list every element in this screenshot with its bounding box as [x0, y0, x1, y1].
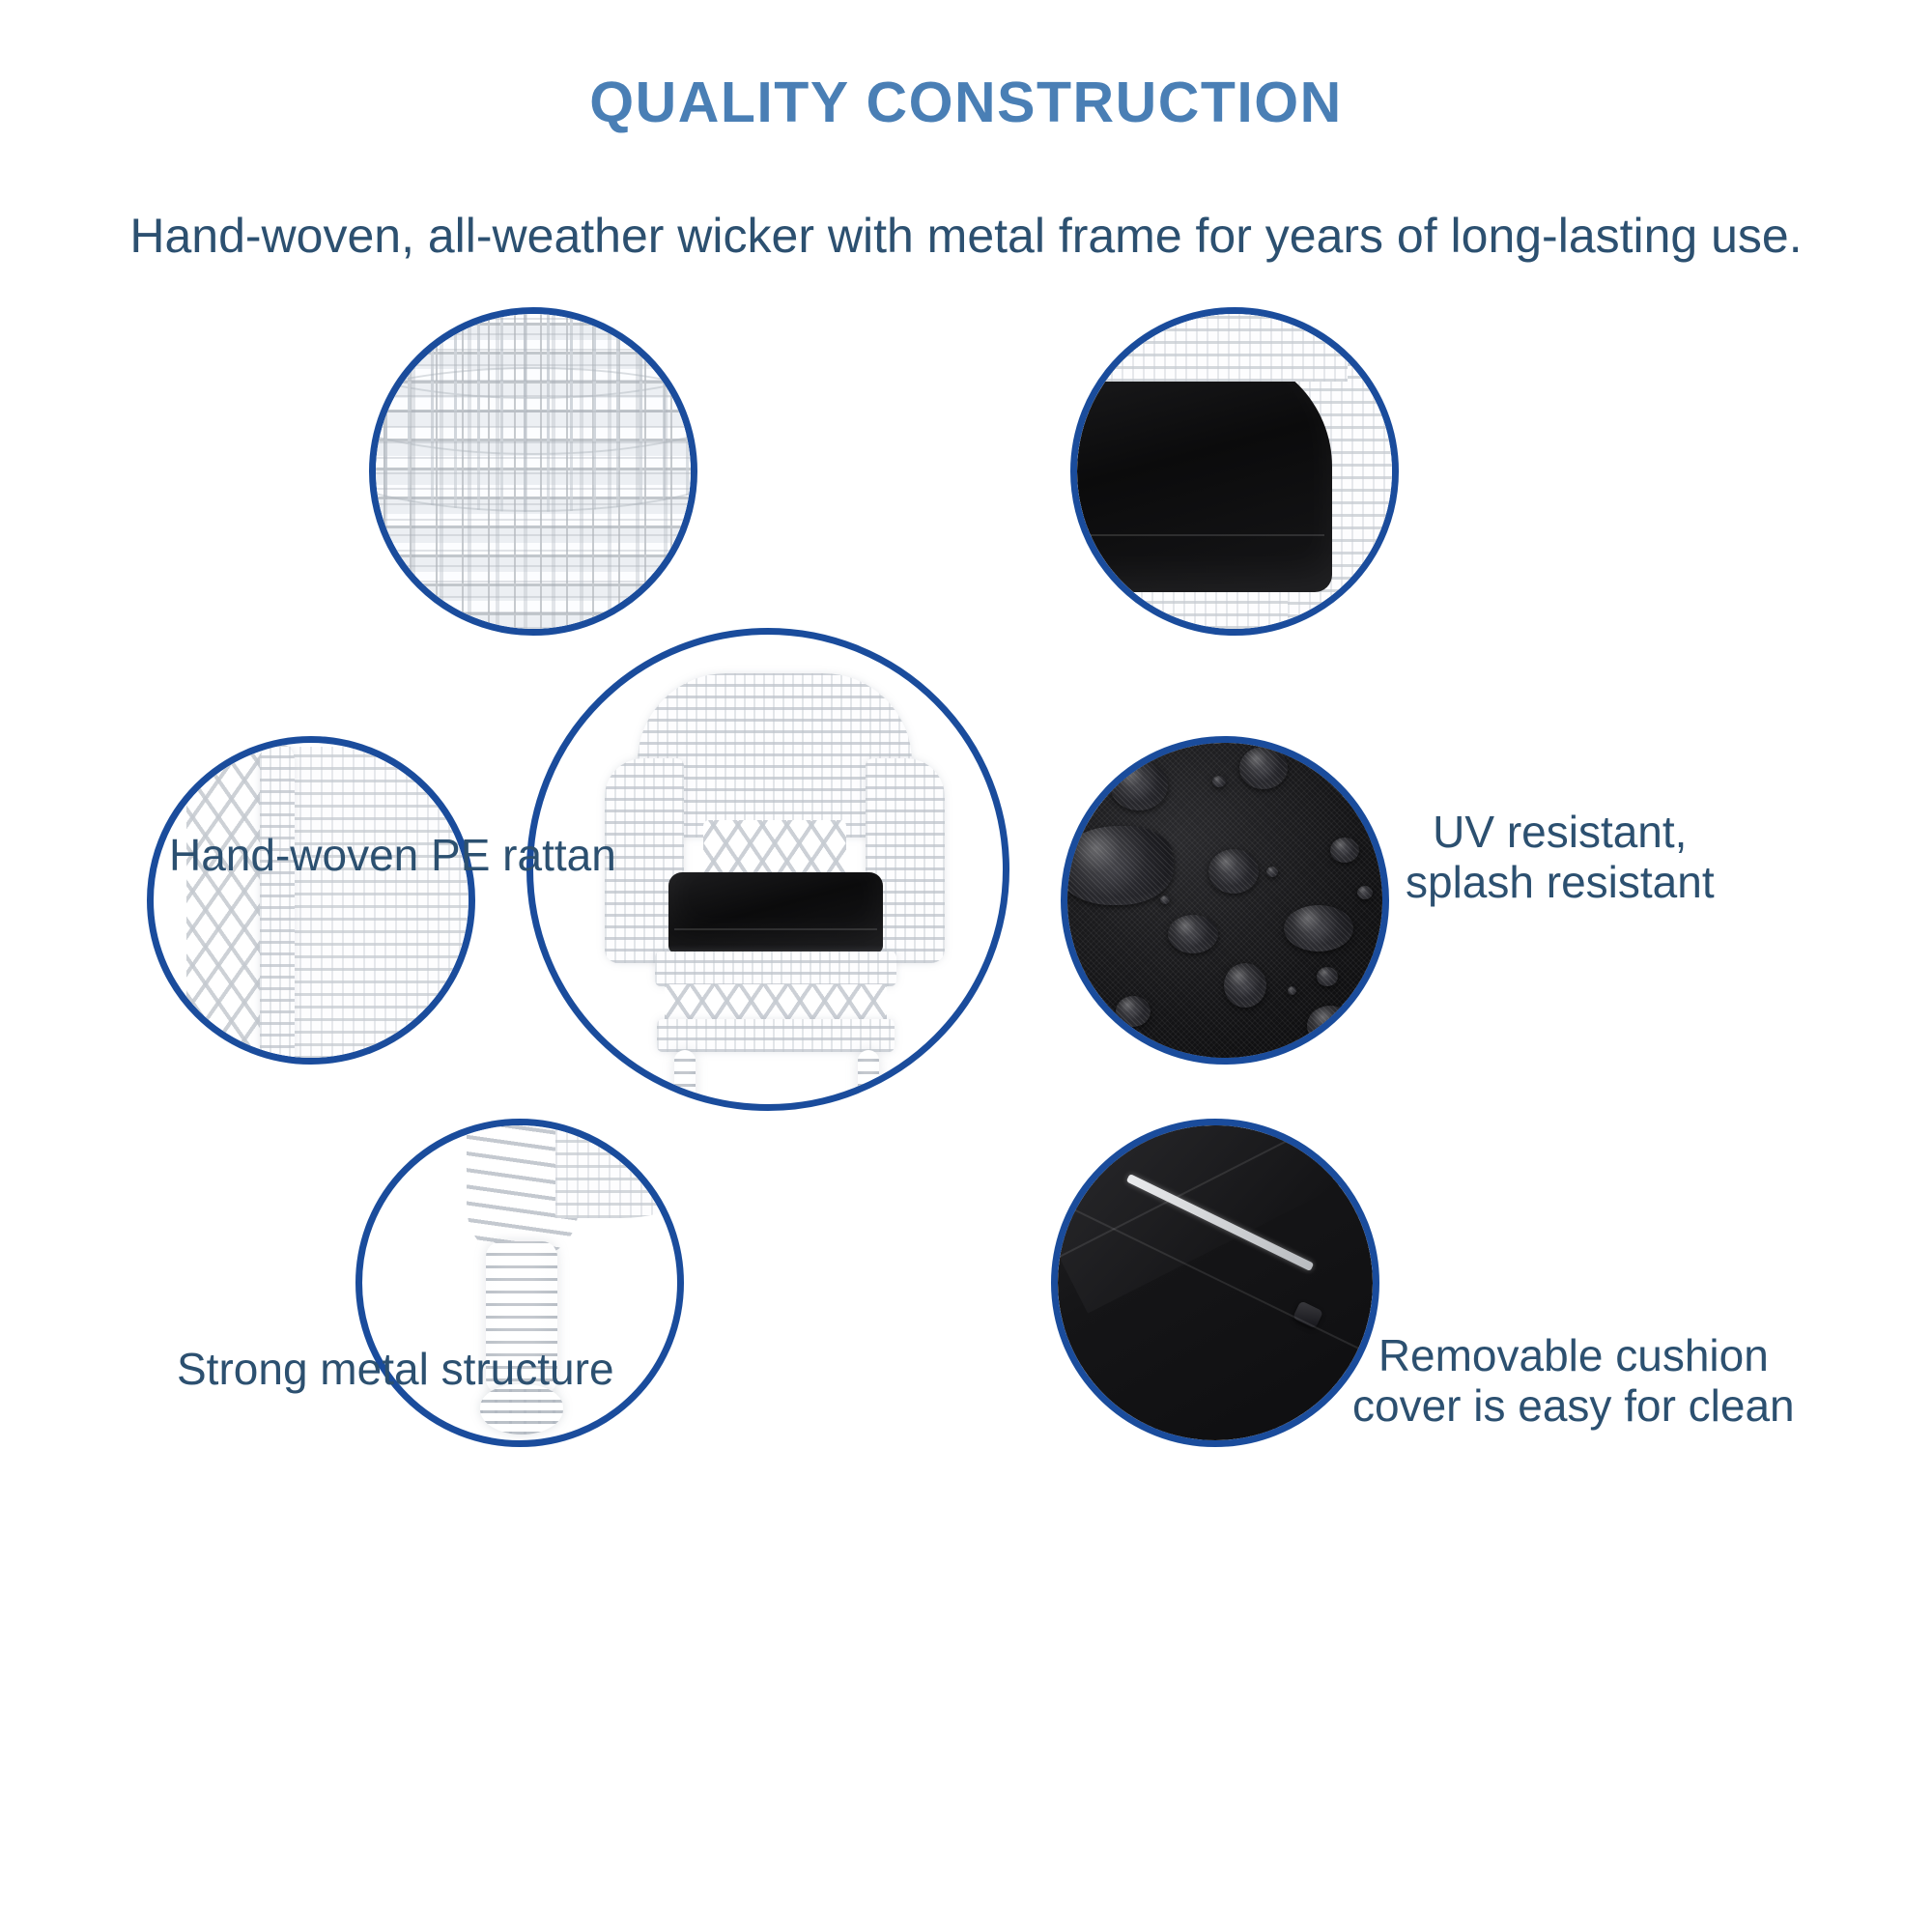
water-droplet	[1116, 996, 1151, 1027]
chair-lower-rail	[657, 1019, 895, 1052]
wicker-base-texture	[1077, 314, 1348, 382]
page-subtitle: Hand-woven, all-weather wicker with meta…	[0, 208, 1932, 264]
water-droplet	[1284, 905, 1353, 952]
water-droplet	[1330, 838, 1359, 863]
feature-circle-water-beading	[1061, 736, 1389, 1065]
water-droplet	[1239, 747, 1288, 789]
rattan-weave-photo	[376, 314, 691, 629]
chair-skirt-lattice	[665, 984, 887, 1021]
water-droplet	[1288, 986, 1296, 995]
infographic-canvas: QUALITY CONSTRUCTION Hand-woven, all-wea…	[0, 0, 1932, 1932]
water-droplet	[1160, 895, 1170, 904]
feature-circle-removable-cushion-cover	[1051, 1119, 1379, 1447]
water-droplet	[1208, 849, 1259, 894]
feature-circle-chair-leg	[355, 1119, 684, 1447]
zipper-photo	[1058, 1125, 1373, 1440]
water-droplet	[1307, 1006, 1353, 1046]
cushion-closeup-photo	[1077, 314, 1392, 629]
water-droplet	[1168, 915, 1218, 953]
feature-circle-uv-splash-resistant	[1070, 307, 1399, 636]
chair-leg-front-right	[858, 1050, 879, 1104]
feature-circle-hand-woven-pe-rattan	[369, 307, 697, 636]
chair-seat-cushion	[668, 872, 883, 953]
caption-removable-cushion-cover: Removable cushion cover is easy for clea…	[1352, 1331, 1795, 1431]
chair-leg-front-left	[674, 1050, 696, 1104]
seat-underside-weave	[555, 1125, 677, 1218]
water-droplet	[1110, 760, 1168, 810]
feature-circle-strong-metal-structure	[147, 736, 475, 1065]
caption-strong-metal-structure: Strong metal structure	[177, 1345, 614, 1395]
chair-seat-apron	[655, 952, 896, 986]
water-droplet	[1266, 867, 1278, 877]
page-title: QUALITY CONSTRUCTION	[0, 70, 1932, 135]
arm-cap-edge	[260, 743, 295, 1058]
water-droplet	[1357, 886, 1373, 899]
water-droplet	[1224, 963, 1266, 1008]
water-droplet	[1067, 826, 1174, 905]
arm-top-texture	[268, 747, 469, 1058]
caption-uv-splash-resistant: UV resistant, splash resistant	[1406, 808, 1715, 907]
water-droplet	[1212, 776, 1226, 787]
seat-cushion	[1077, 351, 1332, 592]
chair-arm-corner-photo	[154, 743, 469, 1058]
water-repellent-fabric-photo	[1067, 743, 1382, 1058]
basket-weave-texture	[376, 314, 691, 629]
water-droplet	[1317, 967, 1338, 986]
caption-hand-woven-pe-rattan: Hand-woven PE rattan	[169, 831, 616, 881]
